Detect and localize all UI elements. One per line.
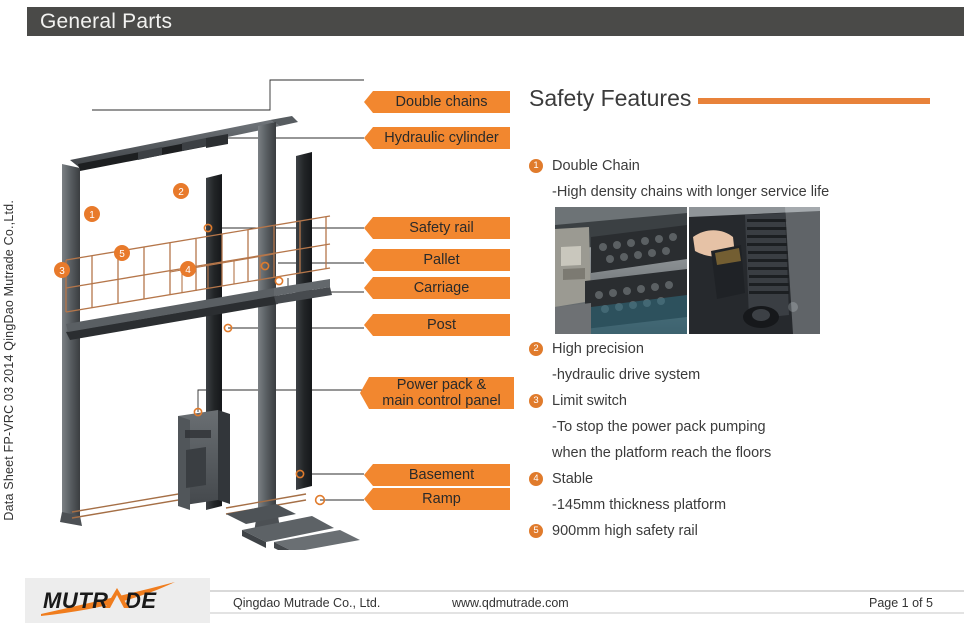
safety-feature-item: 5900mm high safety rail (529, 518, 949, 544)
safety-feature-title: 900mm high safety rail (552, 518, 698, 544)
number-badge-icon: 5 (529, 524, 543, 538)
photo-chain-sprocket-hand (689, 207, 820, 334)
side-note-text: Data Sheet FP-VRC 03 2014 QingDao Mutrad… (2, 200, 20, 521)
safety-feature-heading: 3Limit switch (529, 388, 949, 414)
safety-feature-item: 2High precision-hydraulic drive system (529, 336, 949, 388)
safety-feature-title: Limit switch (552, 388, 627, 414)
number-badge-icon: 2 (529, 342, 543, 356)
safety-feature-detail: -145mm thickness platform (529, 492, 949, 518)
safety-feature-detail-cont: when the platform reach the floors (529, 440, 949, 466)
footer-page-number: Page 1 of 5 (869, 596, 933, 610)
callout-carriage[interactable]: Carriage (364, 277, 510, 299)
safety-feature-title: Double Chain (552, 153, 640, 179)
safety-feature-item: 4Stable-145mm thickness platform (529, 466, 949, 518)
safety-feature-title: High precision (552, 336, 644, 362)
svg-text:1: 1 (89, 210, 95, 221)
callout-double-chains[interactable]: Double chains (364, 91, 510, 113)
safety-feature-detail: -hydraulic drive system (529, 362, 949, 388)
safety-feature-item: 3Limit switch-To stop the power pack pum… (529, 388, 949, 466)
slide-page: General Parts Data Sheet FP-VRC 03 2014 … (0, 0, 964, 627)
svg-text:3: 3 (59, 266, 65, 277)
mutrade-logo: MUTR DE (25, 578, 210, 623)
safety-feature-heading: 1Double Chain (529, 153, 949, 179)
svg-text:4: 4 (185, 265, 191, 276)
title-rule (698, 98, 930, 104)
svg-text:DE: DE (125, 588, 157, 613)
callout-ramp[interactable]: Ramp (364, 488, 510, 510)
callout-basement[interactable]: Basement (364, 464, 510, 486)
svg-text:2: 2 (178, 187, 184, 198)
callout-post[interactable]: Post (364, 314, 510, 336)
safety-feature-heading: 5900mm high safety rail (529, 518, 949, 544)
safety-feature-detail: -High density chains with longer service… (529, 179, 949, 205)
number-badge-icon: 4 (529, 472, 543, 486)
page-title: General Parts (40, 8, 172, 35)
photo-chain-drive-assembly (555, 207, 687, 334)
safety-feature-title: Stable (552, 466, 593, 492)
chain-photo-strip (555, 207, 820, 334)
callout-hydraulic-cylinder[interactable]: Hydraulic cylinder (364, 127, 510, 149)
footer-website[interactable]: www.qdmutrade.com (452, 596, 569, 610)
safety-features-title: Safety Features (529, 85, 691, 112)
svg-text:MUTR: MUTR (43, 588, 109, 613)
svg-text:5: 5 (119, 249, 125, 260)
callout-pallet[interactable]: Pallet (364, 249, 510, 271)
number-badge-icon: 3 (529, 394, 543, 408)
safety-feature-heading: 4Stable (529, 466, 949, 492)
safety-feature-detail: -To stop the power pack pumping (529, 414, 949, 440)
callout-safety-rail[interactable]: Safety rail (364, 217, 510, 239)
footer-company: Qingdao Mutrade Co., Ltd. (233, 596, 380, 610)
callout-power-pack[interactable]: Power pack & main control panel (360, 377, 514, 409)
number-badge-icon: 1 (529, 159, 543, 173)
safety-feature-heading: 2High precision (529, 336, 949, 362)
